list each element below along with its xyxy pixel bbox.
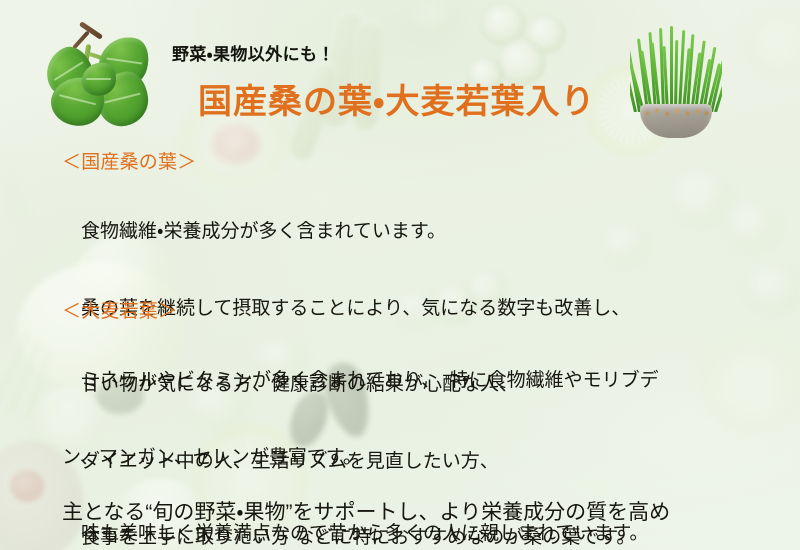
barley-grass-photo xyxy=(624,24,728,138)
mulberry-leaf-photo xyxy=(32,22,160,130)
eyebrow-text: 野菜・果物以外にも！ xyxy=(172,40,335,65)
kiwi-slice-shape xyxy=(700,330,800,434)
page-title: 国産桑の葉・大麦若葉入り xyxy=(198,74,596,123)
barley-grass-pot xyxy=(640,104,712,138)
onion-shape xyxy=(724,200,780,250)
halved-turnip-core xyxy=(212,124,260,164)
closing-paragraph: 主となる“旬の野菜・果物”をサポートし、より栄養成分の質を高め ます。 xyxy=(62,443,670,550)
onion-shape xyxy=(744,262,800,314)
avocado-pit-shape xyxy=(10,470,44,502)
closing-line: 主となる“旬の野菜・果物”をサポートし、より栄養成分の質を高め xyxy=(62,499,670,527)
slide-canvas: 野菜・果物以外にも！ 国産桑の葉・大麦若葉入り ＜国産桑の葉＞ 食物繊維・栄養成… xyxy=(0,0,800,550)
onion-shape xyxy=(414,0,454,34)
onion-shape xyxy=(668,168,732,226)
barley-seeds xyxy=(640,104,712,120)
body-line: 食物繊維・栄養成分が多く含まれています。 xyxy=(62,219,635,245)
body-line: ミネラルやビタミンが多く含まれており、 特に食物繊維やモリブデ xyxy=(62,368,659,394)
barley-grass-blades xyxy=(630,24,722,112)
